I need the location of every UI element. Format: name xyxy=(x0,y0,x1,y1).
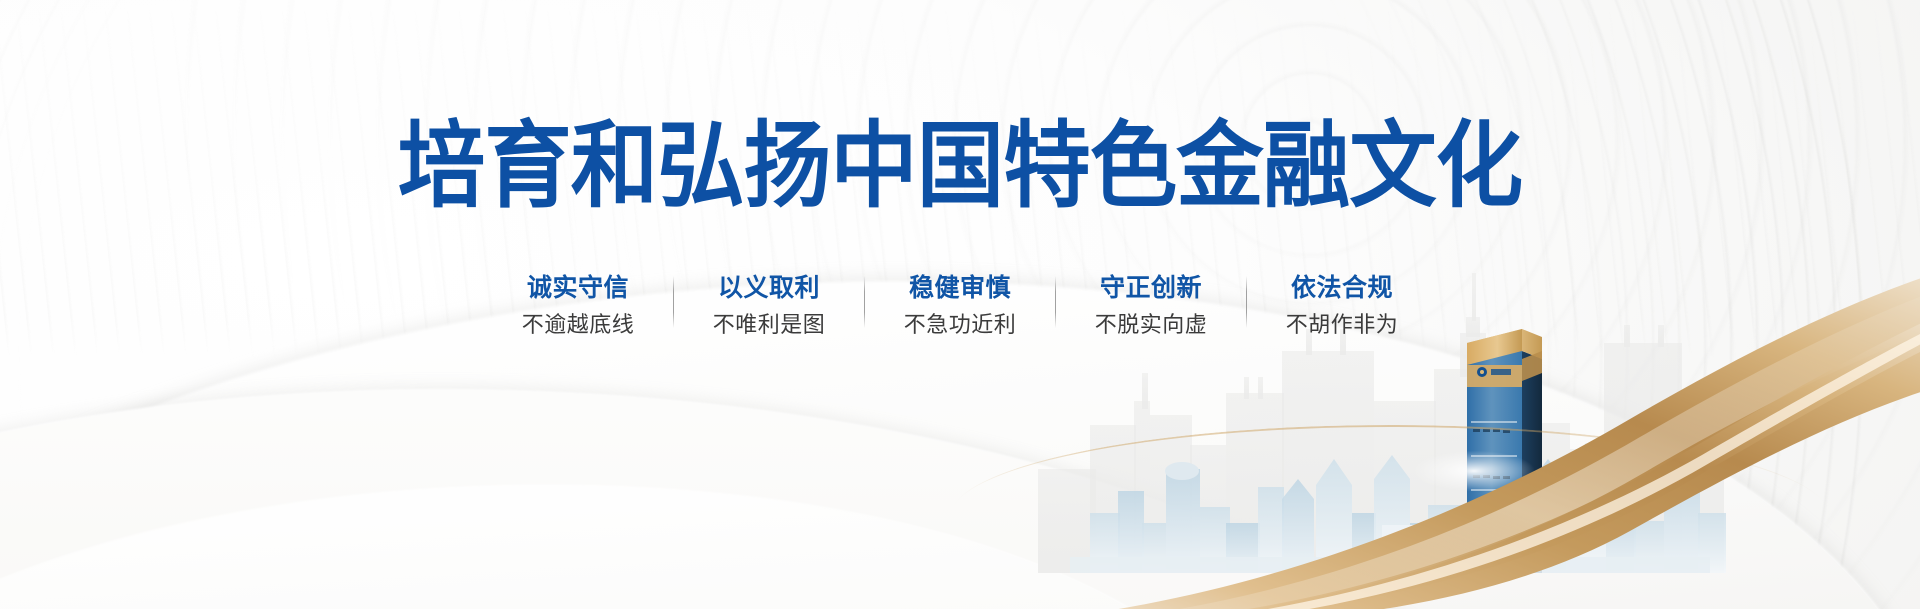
value-headline: 守正创新 xyxy=(1100,272,1202,303)
value-divider xyxy=(673,276,674,328)
value-headline: 稳健审慎 xyxy=(909,272,1011,303)
value-item: 以义取利 不唯利是图 xyxy=(705,272,833,340)
value-subline: 不脱实向虚 xyxy=(1095,312,1208,340)
value-item: 守正创新 不脱实向虚 xyxy=(1087,272,1215,340)
value-subline: 不唯利是图 xyxy=(713,312,826,340)
value-subline: 不逾越底线 xyxy=(522,312,635,340)
value-subline: 不急功近利 xyxy=(904,312,1017,340)
banner-content: 培育和弘扬中国特色金融文化 诚实守信 不逾越底线 以义取利 不唯利是图 稳健审慎… xyxy=(0,0,1920,609)
value-divider xyxy=(1246,276,1247,328)
value-headline: 依法合规 xyxy=(1291,272,1393,303)
value-divider xyxy=(1055,276,1056,328)
value-headline: 诚实守信 xyxy=(527,272,629,303)
core-values-list: 诚实守信 不逾越底线 以义取利 不唯利是图 稳健审慎 不急功近利 守正创新 不脱… xyxy=(0,272,1920,340)
value-item: 稳健审慎 不急功近利 xyxy=(896,272,1024,340)
value-item: 诚实守信 不逾越底线 xyxy=(514,272,642,340)
page-title: 培育和弘扬中国特色金融文化 xyxy=(67,118,1853,217)
financial-culture-banner: 培育和弘扬中国特色金融文化 诚实守信 不逾越底线 以义取利 不唯利是图 稳健审慎… xyxy=(0,0,1920,609)
value-headline: 以义取利 xyxy=(718,272,820,303)
value-subline: 不胡作非为 xyxy=(1286,312,1399,340)
value-item: 依法合规 不胡作非为 xyxy=(1278,272,1406,340)
value-divider xyxy=(864,276,865,328)
